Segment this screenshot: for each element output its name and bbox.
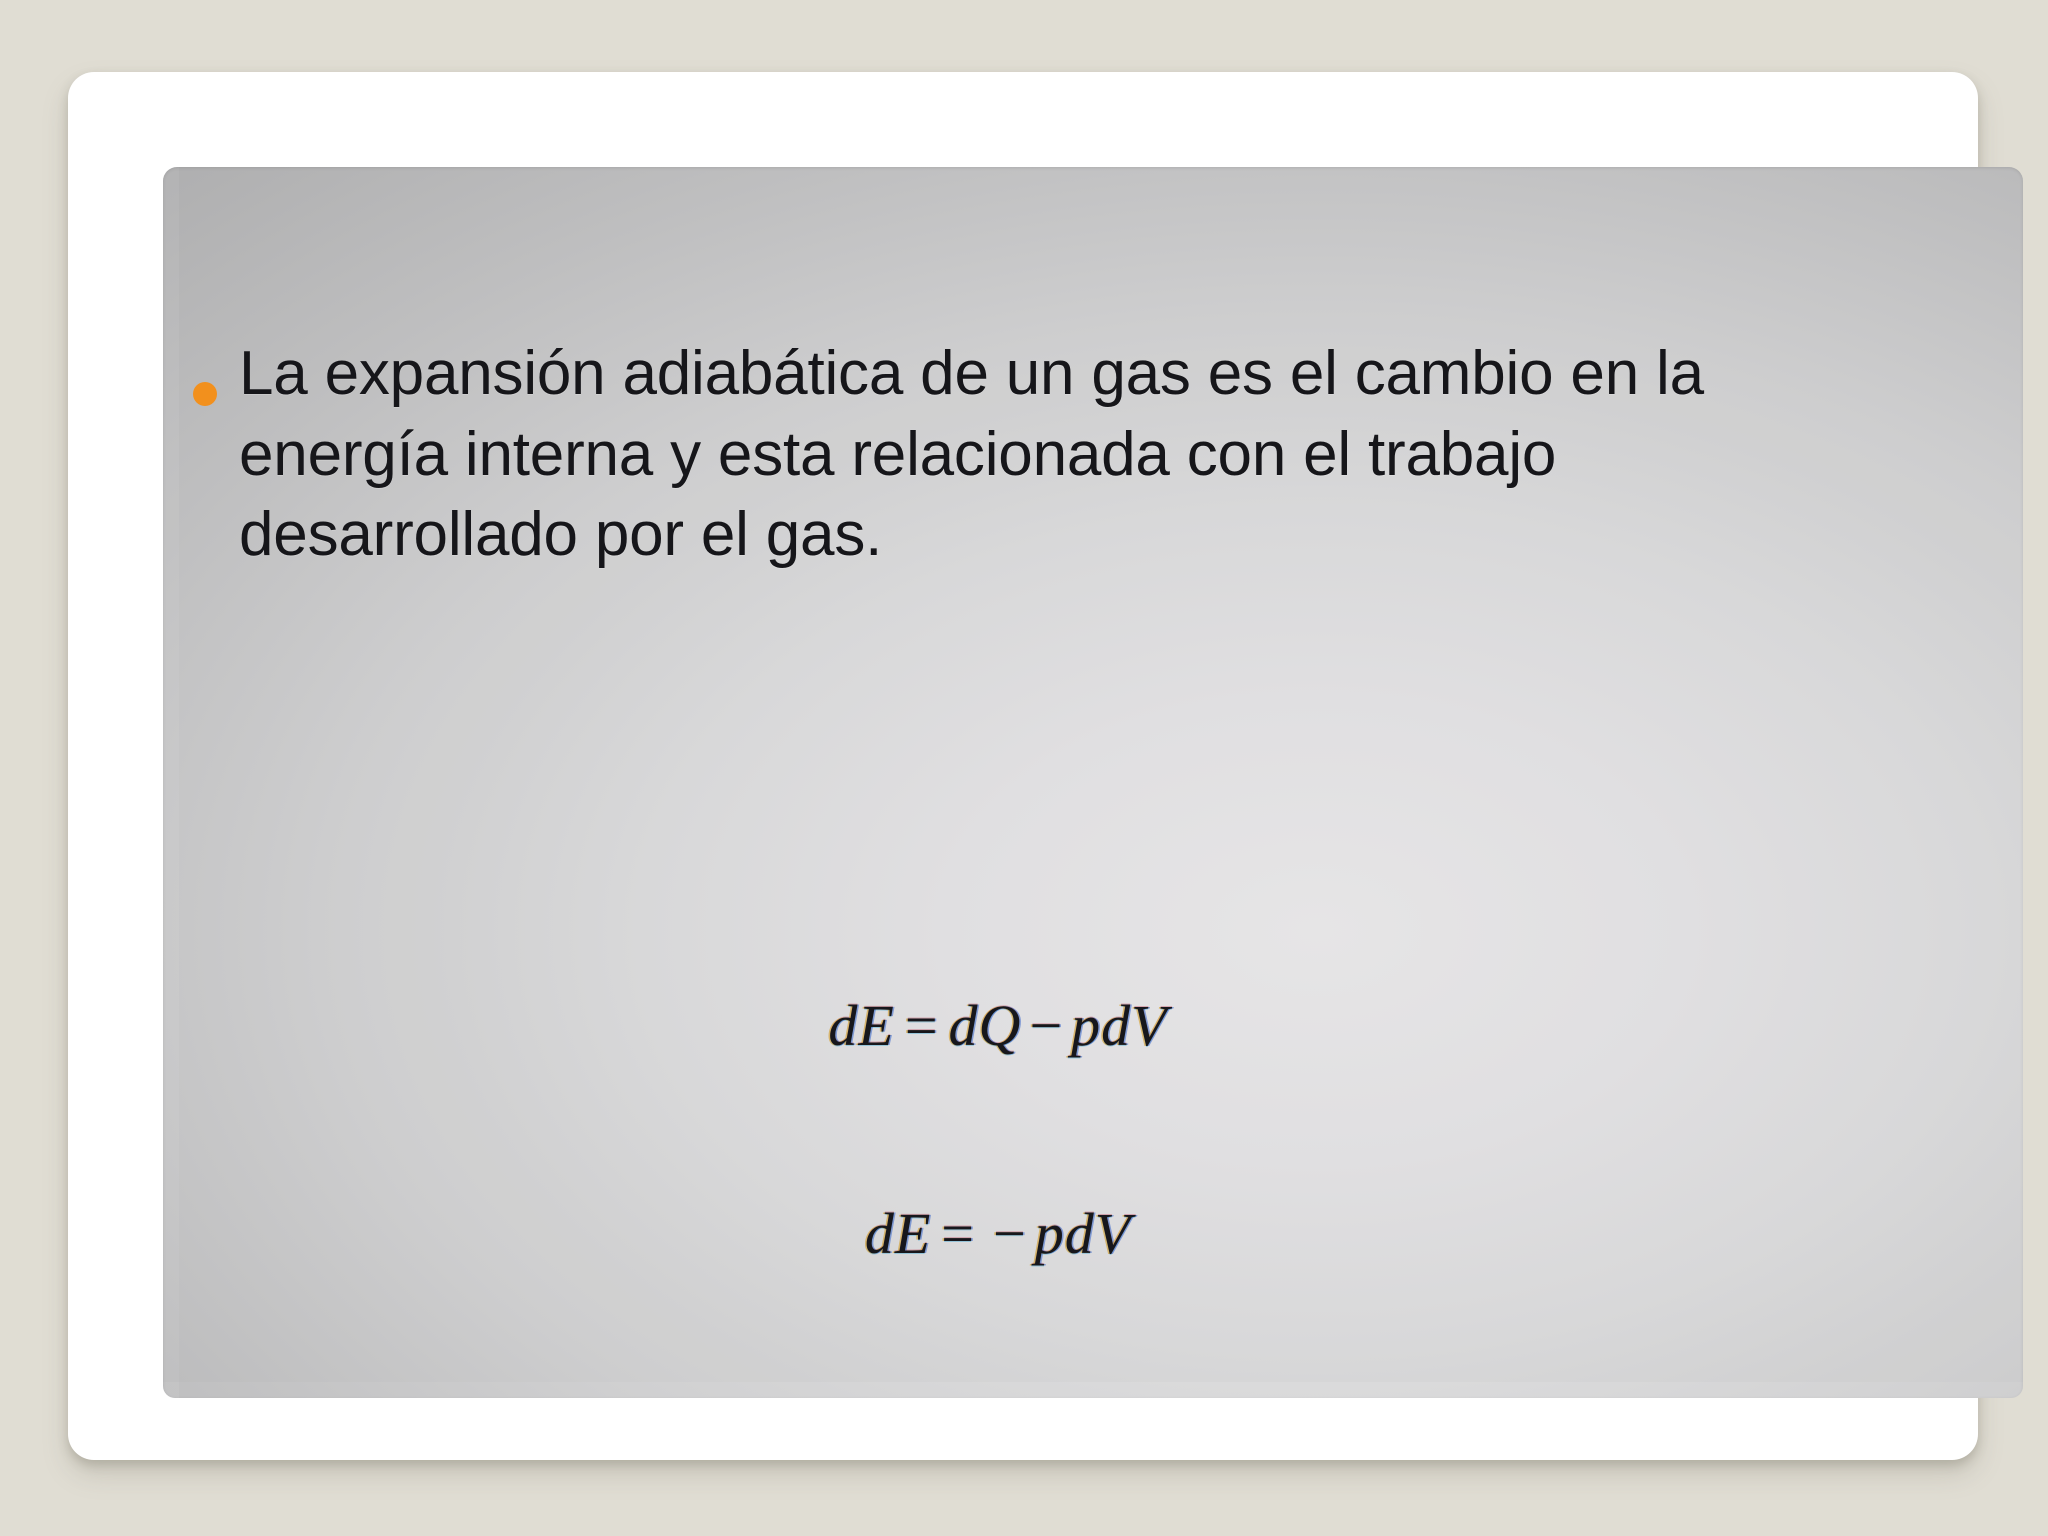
formula1-rhs-second: pdV [1071,993,1167,1058]
formula2-minus-operator: − [985,1201,1035,1266]
formula2-lhs: dE [865,1201,931,1266]
formula1-lhs: dE [828,993,894,1058]
formula-first-law-with-heat: dE=dQ−pdV [68,992,1928,1059]
slide-card: La expansión adiabática de un gas es el … [68,72,1978,1460]
formula2-rhs: pdV [1035,1201,1131,1266]
formula-adiabatic-first-law: dE=−pdV [68,1200,1928,1267]
formula2-equals: = [931,1201,985,1266]
bullet-paragraph-text: La expansión adiabática de un gas es el … [239,334,1873,576]
formula1-minus-operator: − [1021,993,1071,1058]
formula1-rhs-first: dQ [949,993,1022,1058]
bullet-list-item: La expansión adiabática de un gas es el … [193,334,1873,576]
bullet-dot-icon [193,382,217,406]
slide-page-background: La expansión adiabática de un gas es el … [0,0,2048,1536]
formula1-equals: = [895,993,949,1058]
